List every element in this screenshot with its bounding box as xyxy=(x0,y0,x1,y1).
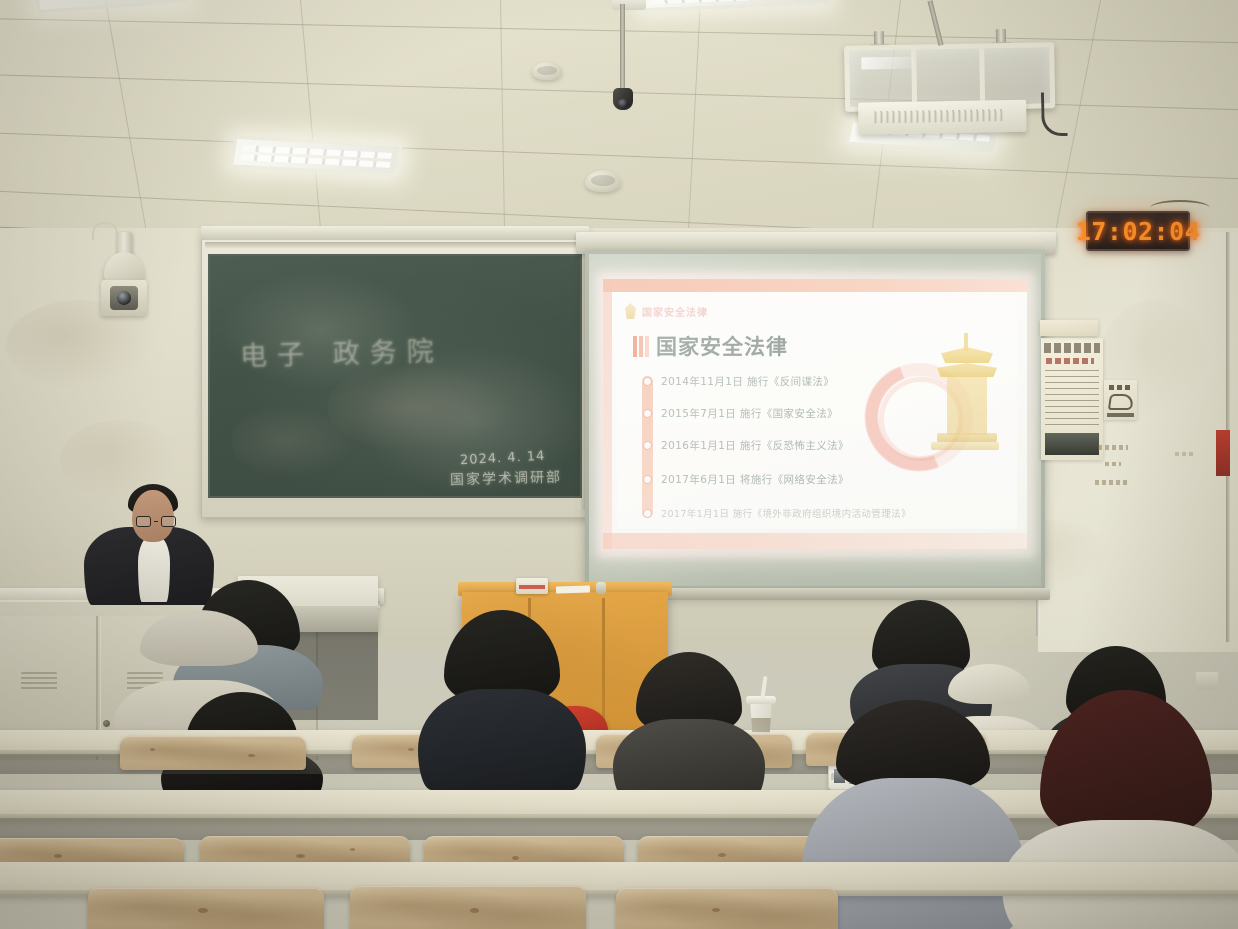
wall-note xyxy=(1095,480,1129,485)
drinking-straw xyxy=(760,676,767,698)
slide-title: 国家安全法律 xyxy=(656,331,788,361)
slide-header-label: 国家安全法律 xyxy=(642,304,708,319)
title-marker-icon xyxy=(633,336,649,357)
timeline-item: 2017年6月1日 将施行《网络安全法》 xyxy=(661,472,849,487)
ceiling xyxy=(0,0,1238,232)
timeline-item: 2014年11月1日 施行《反间谍法》 xyxy=(661,374,834,389)
lectern-paper[interactable] xyxy=(556,585,590,593)
emblem-icon xyxy=(625,303,636,319)
gate-tower-icon xyxy=(935,333,999,459)
wall-poster-graphic xyxy=(1104,380,1137,420)
wall-note xyxy=(1098,445,1128,450)
wall-outlet xyxy=(1196,672,1218,690)
ceiling-light-fixture xyxy=(638,0,831,11)
red-wall-banner xyxy=(1216,430,1230,476)
ceiling-light-fixture xyxy=(230,136,403,177)
chair-back[interactable] xyxy=(120,736,306,770)
microphone[interactable] xyxy=(596,582,606,594)
ceiling-speaker xyxy=(532,62,562,80)
chalkboard-date: 2024. 4. 14 xyxy=(460,449,546,468)
chalkboard-organization: 国家学术调研部 xyxy=(450,467,562,490)
timeline-item: 2017年1月1日 施行《境外非政府组织境内活动管理法》 xyxy=(661,506,911,520)
projection-screen: 国家安全法律 国家安全法律 xyxy=(589,254,1041,586)
ceiling-projector-assembly xyxy=(844,42,1056,152)
led-clock: 17:02:04 xyxy=(1086,211,1190,251)
student xyxy=(636,652,742,798)
decorative-seal-graphic xyxy=(865,333,1005,483)
chair-back[interactable] xyxy=(616,888,838,929)
classroom-scene: 电子 政务院 2024. 4. 14 国家学术调研部 国家安全法律 国家安全法律 xyxy=(0,0,1238,929)
timeline-item: 2016年1月1日 施行《反恐怖主义法》 xyxy=(661,438,849,453)
presentation-slide: 国家安全法律 国家安全法律 xyxy=(603,279,1027,549)
student xyxy=(444,610,560,790)
chalkboard-faint-writing: 电子 政务院 xyxy=(240,329,445,373)
chalkboard-top-rail xyxy=(201,226,589,240)
clock-time: 17:02:04 xyxy=(1076,217,1200,246)
ceiling-light-fixture xyxy=(34,0,188,13)
wall-poster-right xyxy=(1040,320,1098,336)
lecturer-glasses xyxy=(136,516,176,527)
lecturer-shirt xyxy=(138,536,170,602)
ceiling-dome-camera xyxy=(613,88,633,110)
projector-body xyxy=(858,100,1027,135)
camera-lens xyxy=(110,286,138,310)
slide-header: 国家安全法律 xyxy=(625,303,708,319)
chalk-box[interactable] xyxy=(516,578,548,594)
wall-poster-article xyxy=(1041,338,1103,460)
wall-note xyxy=(1105,462,1121,466)
smoke-detector xyxy=(585,170,621,192)
slide-title-row: 国家安全法律 xyxy=(633,331,788,361)
chalkboard-slide-track[interactable] xyxy=(205,242,585,248)
chalkboard: 电子 政务院 2024. 4. 14 国家学术调研部 xyxy=(208,254,582,498)
chair-back[interactable] xyxy=(350,886,586,929)
chair-back[interactable] xyxy=(88,888,324,929)
timeline-item: 2015年7月1日 施行《国家安全法》 xyxy=(661,406,838,421)
wall-note xyxy=(1175,452,1193,456)
